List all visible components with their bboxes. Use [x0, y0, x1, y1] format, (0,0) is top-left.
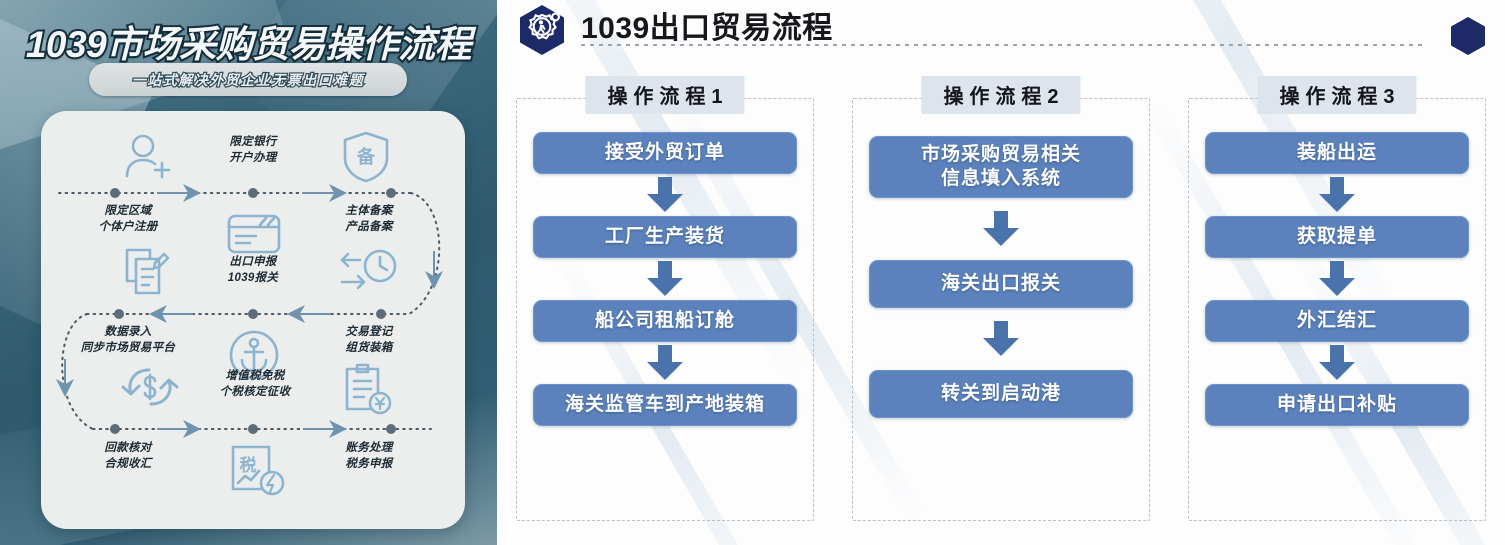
flow-label-s6: 数据录入 同步市场贸易平台 — [53, 325, 203, 356]
right-flow-panel: 1039出口贸易流程 操作流程1 接受外贸订单 工厂生产装货 — [497, 0, 1505, 545]
flow-node[interactable]: 获取提单 — [1205, 216, 1469, 258]
svg-text:税: 税 — [240, 455, 257, 475]
arrow-down-icon — [533, 342, 797, 384]
panel-header: 1039出口贸易流程 — [497, 0, 1505, 60]
hexagon-gear-person-icon — [516, 4, 568, 56]
circular-flow-card: 备 — [41, 111, 465, 529]
documents-edit-icon — [119, 245, 177, 301]
page-title: 1039出口贸易流程 — [581, 3, 833, 47]
flow-node-text: 市场采购贸易相关信息填入系统 — [921, 143, 1081, 192]
column-3-heading: 操作流程3 — [1257, 76, 1416, 114]
column-1-nodes: 接受外贸订单 工厂生产装货 船公司租船订舱 海关监管车到产地装箱 — [533, 132, 797, 501]
flow-node[interactable]: 申请出口补贴 — [1205, 384, 1469, 426]
flow-node[interactable]: 海关出口报关 — [869, 260, 1133, 308]
left-poster-panel: 1039市场采购贸易操作流程 一站式解决外贸企业无票出口难题 — [0, 0, 497, 545]
arrow-down-icon — [869, 308, 1133, 370]
bank-card-icon — [225, 208, 283, 260]
column-2-heading: 操作流程2 — [921, 76, 1080, 114]
arrow-down-icon — [1205, 342, 1469, 384]
arrow-down-icon — [869, 198, 1133, 260]
hexagon-marker-icon — [1447, 15, 1489, 57]
flow-label-s3: 主体备案 产品备案 — [313, 204, 425, 235]
svg-text:备: 备 — [356, 146, 376, 167]
column-2-nodes: 市场采购贸易相关信息填入系统 海关出口报关 转关到启动港 — [869, 136, 1133, 501]
poster-subtitle-pill: 一站式解决外贸企业无票出口难题 — [89, 63, 407, 96]
flow-node[interactable]: 装船出运 — [1205, 132, 1469, 174]
flow-column-1: 操作流程1 接受外贸订单 工厂生产装货 船公司租船订舱 海关监管车到产地装箱 — [497, 76, 833, 531]
flow-node[interactable]: 海关监管车到产地装箱 — [533, 384, 797, 426]
arrow-down-icon — [1205, 174, 1469, 216]
flow-label-s9: 账务处理 税务申报 — [313, 441, 425, 472]
flow-node[interactable]: 工厂生产装货 — [533, 216, 797, 258]
flow-columns: 操作流程1 接受外贸订单 工厂生产装货 船公司租船订舱 海关监管车到产地装箱 — [497, 76, 1505, 531]
flow-label-s7: 回款核对 合规收汇 — [68, 441, 188, 472]
flow-node[interactable]: 转关到启动港 — [869, 370, 1133, 418]
clock-transfer-icon — [337, 245, 399, 297]
flow-node[interactable]: 接受外贸订单 — [533, 132, 797, 174]
header-dotted-rule — [581, 44, 1426, 46]
flow-node[interactable]: 外汇结汇 — [1205, 300, 1469, 342]
flow-label-s8: 增值税免税 个税核定征收 — [186, 369, 324, 400]
poster-subtitle: 一站式解决外贸企业无票出口难题 — [132, 70, 365, 90]
arrow-down-icon — [533, 258, 797, 300]
flow-column-2: 操作流程2 市场采购贸易相关信息填入系统 海关出口报关 转关到启动港 — [833, 76, 1169, 531]
poster-title: 1039市场采购贸易操作流程 — [0, 14, 497, 68]
column-1-heading: 操作流程1 — [585, 76, 744, 114]
flow-node[interactable]: 市场采购贸易相关信息填入系统 — [869, 136, 1133, 198]
user-add-icon — [119, 131, 177, 183]
tax-form-icon — [337, 359, 395, 417]
infographic-root: 1039市场采购贸易操作流程 一站式解决外贸企业无票出口难题 — [0, 0, 1505, 545]
arrow-down-icon — [533, 174, 797, 216]
currency-exchange-icon — [119, 359, 181, 415]
flow-label-s1: 限定区域 个体户注册 — [68, 204, 188, 235]
flow-node[interactable]: 船公司租船订舱 — [533, 300, 797, 342]
flow-column-3: 操作流程3 装船出运 获取提单 外汇结汇 申请出口补贴 — [1169, 76, 1505, 531]
tax-report-icon: 税 — [225, 441, 287, 499]
column-3-nodes: 装船出运 获取提单 外汇结汇 申请出口补贴 — [1205, 132, 1469, 501]
flow-label-s5: 出口申报 1039报关 — [196, 255, 310, 286]
arrow-down-icon — [1205, 258, 1469, 300]
flow-label-s4: 交易登记 组货装箱 — [313, 325, 425, 356]
flow-label-s2: 限定银行 开户办理 — [196, 135, 310, 166]
shield-record-icon: 备 — [337, 129, 395, 185]
